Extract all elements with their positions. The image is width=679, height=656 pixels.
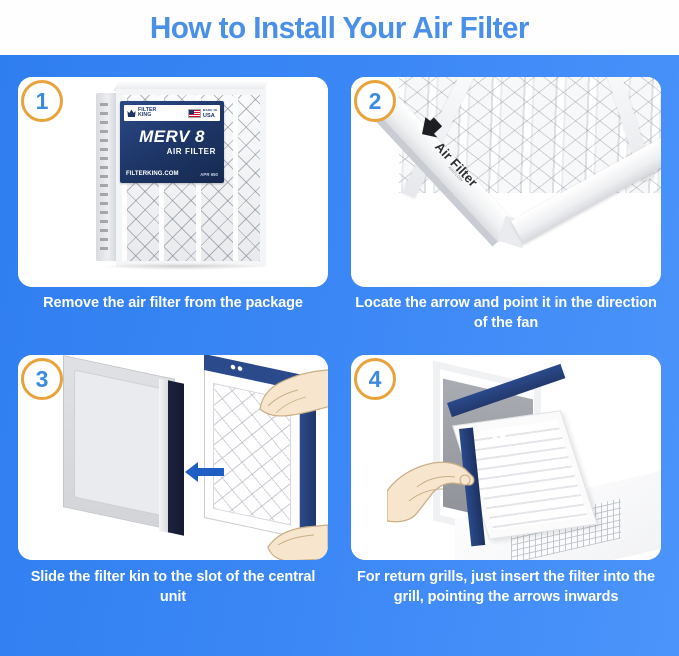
filter-product-photo: FILTER KING MADE IN USA [18, 77, 328, 287]
hand-inserting-icon [387, 451, 483, 523]
infographic-page: How to Install Your Air Filter [0, 0, 679, 656]
label-subtitle: AIR FILTER [120, 147, 216, 156]
insert-direction-arrow-icon [184, 461, 224, 483]
air-filter-product: FILTER KING MADE IN USA [96, 89, 266, 267]
step-3-image-card [18, 355, 328, 560]
brand-website: FILTERKING.COM [126, 171, 179, 177]
filter-pleat-ticks [100, 103, 108, 253]
apr-rating: APR 650 [200, 172, 218, 177]
step-card-4: 4 For return grills, just insert the fil… [351, 355, 661, 645]
step-number-badge-3: 3 [21, 358, 63, 400]
hand-top-icon [254, 365, 328, 421]
made-in-usa-text: MADE IN USA [203, 107, 217, 119]
page-title: How to Install Your Air Filter [150, 10, 529, 46]
step-2-image-card: Air Filter AIRFLOW [351, 77, 661, 287]
step-caption-4: For return grills, just insert the filte… [351, 567, 661, 607]
return-grill-illustration [351, 355, 661, 560]
step-caption-1: Remove the air filter from the package [18, 293, 328, 313]
step-card-3: 3 Slide the filter kin to the slot of th… [18, 355, 328, 645]
label-header-bar: FILTER KING MADE IN USA [124, 105, 220, 121]
step-caption-3: Slide the filter kin to the slot of the … [18, 567, 328, 607]
step-number-badge-1: 1 [21, 80, 63, 122]
country-label: USA [203, 113, 215, 119]
brand-line-2: KING [138, 113, 156, 118]
filter-corner-body: Air Filter AIRFLOW [359, 77, 661, 287]
steps-board: FILTER KING MADE IN USA [0, 55, 679, 656]
product-shadow [102, 263, 262, 270]
brand-lockup: FILTER KING [127, 108, 156, 119]
header: How to Install Your Air Filter [0, 0, 679, 55]
usa-flag-icon [188, 109, 201, 118]
step-4-image-card [351, 355, 661, 560]
filter-corner-photo: Air Filter AIRFLOW [351, 77, 661, 287]
step-caption-2: Locate the arrow and point it in the dir… [351, 293, 661, 333]
step-card-1: FILTER KING MADE IN USA [18, 77, 328, 362]
step-card-2: Air Filter AIRFLOW 2 Locate the arrow an… [351, 77, 661, 362]
made-in-usa-lockup: MADE IN USA [188, 107, 217, 119]
central-unit-inset [74, 369, 164, 516]
hand-bottom-icon [266, 523, 328, 560]
filter-side-edge [96, 93, 118, 261]
step-number-badge-4: 4 [354, 358, 396, 400]
label-footer-bar: FILTERKING.COM APR 650 [126, 171, 218, 177]
merv-rating: MERV 8 [120, 127, 224, 147]
central-unit-slot [168, 380, 184, 535]
slide-filter-illustration [18, 355, 328, 560]
steps-grid: FILTER KING MADE IN USA [0, 55, 679, 656]
step-number-badge-2: 2 [354, 80, 396, 122]
step-1-image-card: FILTER KING MADE IN USA [18, 77, 328, 287]
filter-product-label: FILTER KING MADE IN USA [120, 101, 224, 183]
crown-icon [127, 108, 136, 119]
brand-text-block: FILTER KING [138, 108, 156, 119]
